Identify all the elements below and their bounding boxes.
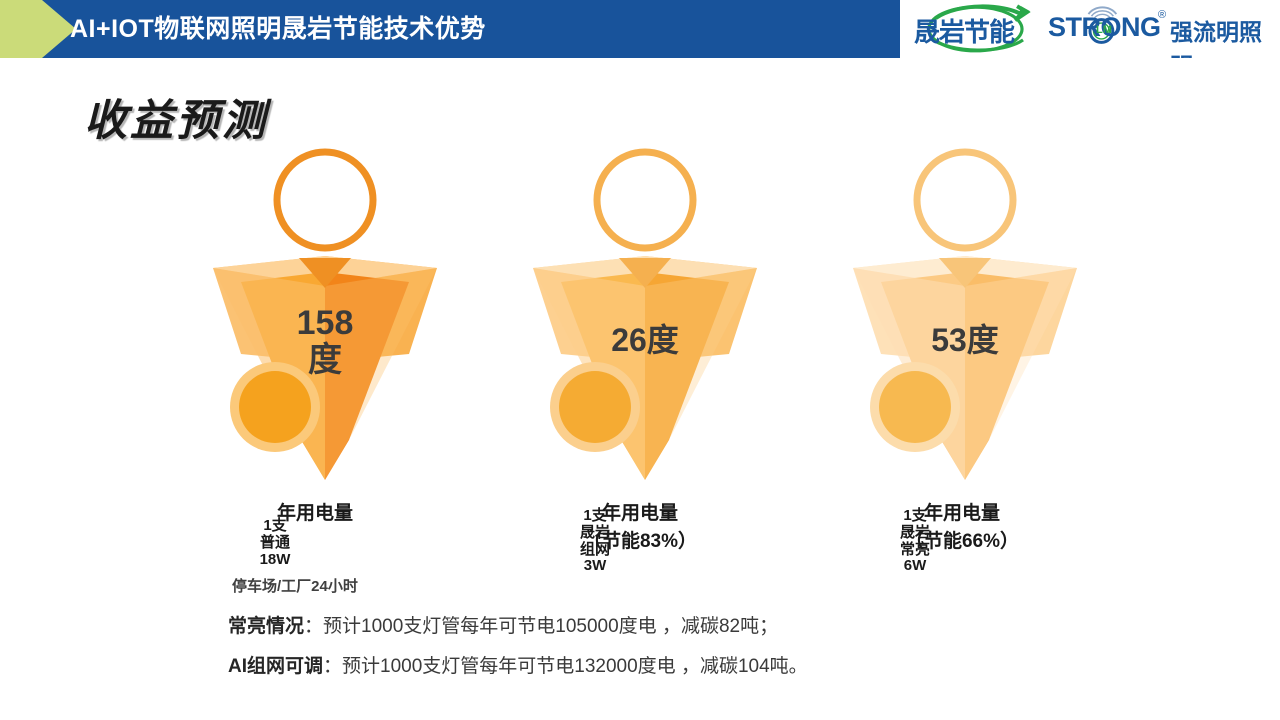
- note-line-always-on: 常亮情况：预计1000支灯管每年可节电105000度电 ，减碳82吨；: [228, 611, 778, 638]
- caption-ai-mesh: 年用电量 （节能83%）: [490, 500, 790, 555]
- brand-logo: 晟岩节能 STRONG LM ® 强流明照明: [897, 0, 1280, 58]
- header-title: AI+IOT物联网照明晟岩节能技术优势: [70, 0, 486, 58]
- brand-orb-label: LM: [1096, 24, 1112, 36]
- brand-tagline: 强流明照明: [1170, 13, 1280, 58]
- note-line-1-text: ：预计1000支灯管每年可节电105000度电 ，减碳82吨；: [304, 616, 778, 637]
- registered-trademark-icon: ®: [1158, 9, 1166, 21]
- funnel-always-on: 53度 1支 晟岩 常亮 6W: [835, 140, 1095, 490]
- note-context: 停车场/工厂24小时: [232, 575, 358, 596]
- chevron-right-icon: [0, 0, 76, 58]
- header-bar: AI+IOT物联网照明晟岩节能技术优势 晟岩节能 STRONG LM ® 强流明…: [0, 0, 1280, 58]
- note-line-1-label: 常亮情况: [228, 616, 304, 637]
- funnel-graphic: [515, 140, 775, 490]
- funnel-ordinary: 158度 1支 普通 18W: [195, 140, 455, 490]
- note-line-2-label: AI组网可调: [228, 656, 323, 677]
- page-title: 收益预测: [84, 86, 268, 148]
- note-line-ai-mesh: AI组网可调：预计1000支灯管每年可节电132000度电 ，减碳104吨。: [228, 651, 808, 678]
- funnel-graphic: [835, 140, 1095, 490]
- funnel-ai-mesh: 26度 1支 晟岩 组网 3W: [515, 140, 775, 490]
- caption-always-on: 年用电量 （节能66%）: [812, 500, 1112, 555]
- funnel-graphic: [195, 140, 455, 490]
- brand-name-cn: 晟岩节能: [914, 12, 1044, 46]
- note-line-2-text: ：预计1000支灯管每年可节电132000度电 ，减碳104吨。: [323, 656, 808, 677]
- caption-ordinary: 年用电量: [165, 500, 465, 528]
